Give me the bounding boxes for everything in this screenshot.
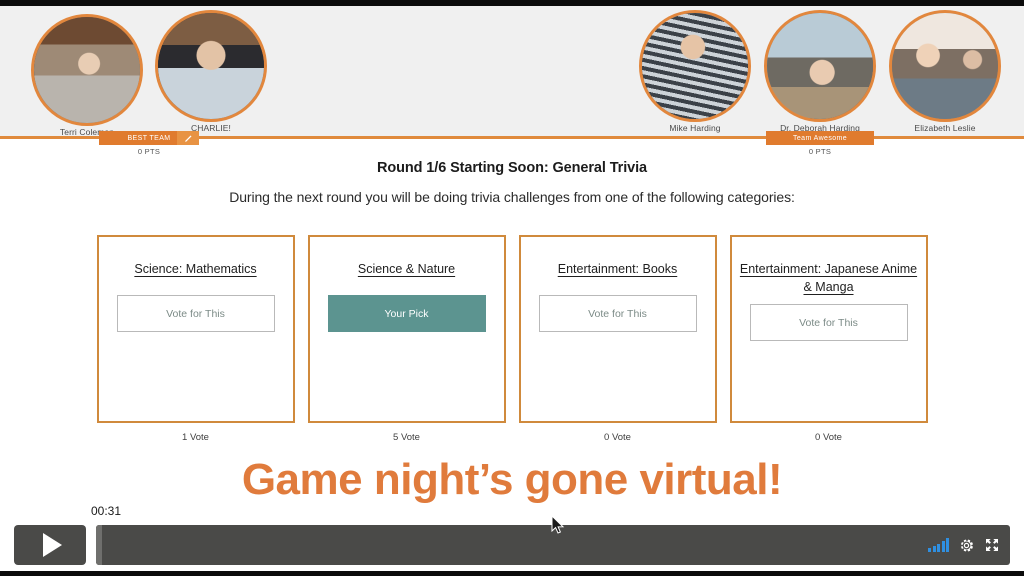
team-name-badge[interactable]: Team Awesome [766,131,874,145]
vote-button[interactable]: Vote for This [117,295,275,332]
team-points: 0 PTS [99,147,199,156]
round-title: Round 1/6 Starting Soon: General Trivia [0,160,1024,176]
participant-tile[interactable]: Elizabeth Leslie [886,10,1004,133]
team-points: 0 PTS [766,147,874,156]
participant-tile[interactable]: Mike Harding [636,10,754,133]
category-title: Science & Nature [310,260,504,278]
participant-tile[interactable]: Terri Coleman [28,14,146,137]
team-name-badge[interactable]: BEST TEAM [99,131,199,145]
player-right-controls [928,525,1000,565]
category-card: Entertainment: Japanese Anime & Manga Vo… [730,235,928,443]
progress-scrubber[interactable] [96,525,1010,565]
headline: Game night’s gone virtual! [0,455,1024,505]
category-title: Science: Mathematics [99,260,293,278]
vote-count: 1 Vote [97,432,295,443]
vote-count: 0 Vote [730,432,928,443]
pencil-icon[interactable] [177,131,199,145]
avatar [889,10,1001,122]
category-title: Entertainment: Books [521,260,715,278]
category-card: Science: Mathematics Vote for This 1 Vot… [97,235,295,443]
team-name: BEST TEAM [127,135,170,142]
category-title: Entertainment: Japanese Anime & Manga [732,260,926,296]
category-card: Science & Nature Your Pick 5 Vote [308,235,506,443]
participant-tile[interactable]: Dr. Deborah Harding [761,10,879,133]
team-badge-best-team[interactable]: BEST TEAM 0 PTS [99,131,199,156]
avatar [639,10,751,122]
participant-name: Elizabeth Leslie [886,123,1004,133]
letterbox-top [0,0,1024,6]
video-frame: Terri Coleman CHARLIE! Mike Harding Dr. … [0,0,1024,576]
round-subtitle: During the next round you will be doing … [0,189,1024,205]
vote-count: 5 Vote [308,432,506,443]
main-content: Round 1/6 Starting Soon: General Trivia … [0,160,1024,205]
avatar [764,10,876,122]
participants-header: Terri Coleman CHARLIE! Mike Harding Dr. … [0,6,1024,136]
vote-count: 0 Vote [519,432,717,443]
team-badge-team-awesome[interactable]: Team Awesome 0 PTS [766,131,874,156]
avatar [155,10,267,122]
fullscreen-icon[interactable] [984,537,1000,553]
video-player-controls: 00:31 [0,519,1024,571]
signal-bars-icon[interactable] [928,538,949,552]
avatar [31,14,143,126]
category-card: Entertainment: Books Vote for This 0 Vot… [519,235,717,443]
participant-tile[interactable]: CHARLIE! [152,10,270,133]
letterbox-bottom [0,571,1024,576]
gear-icon[interactable] [958,537,975,554]
team-name: Team Awesome [793,135,847,142]
vote-button[interactable]: Vote for This [539,295,697,332]
vote-button[interactable]: Vote for This [750,304,908,341]
your-pick-button[interactable]: Your Pick [328,295,486,332]
time-tooltip: 00:31 [86,503,126,520]
category-card-list: Science: Mathematics Vote for This 1 Vot… [0,235,1024,443]
participant-name: Mike Harding [636,123,754,133]
play-icon[interactable] [14,525,86,565]
progress-fill [96,525,102,565]
